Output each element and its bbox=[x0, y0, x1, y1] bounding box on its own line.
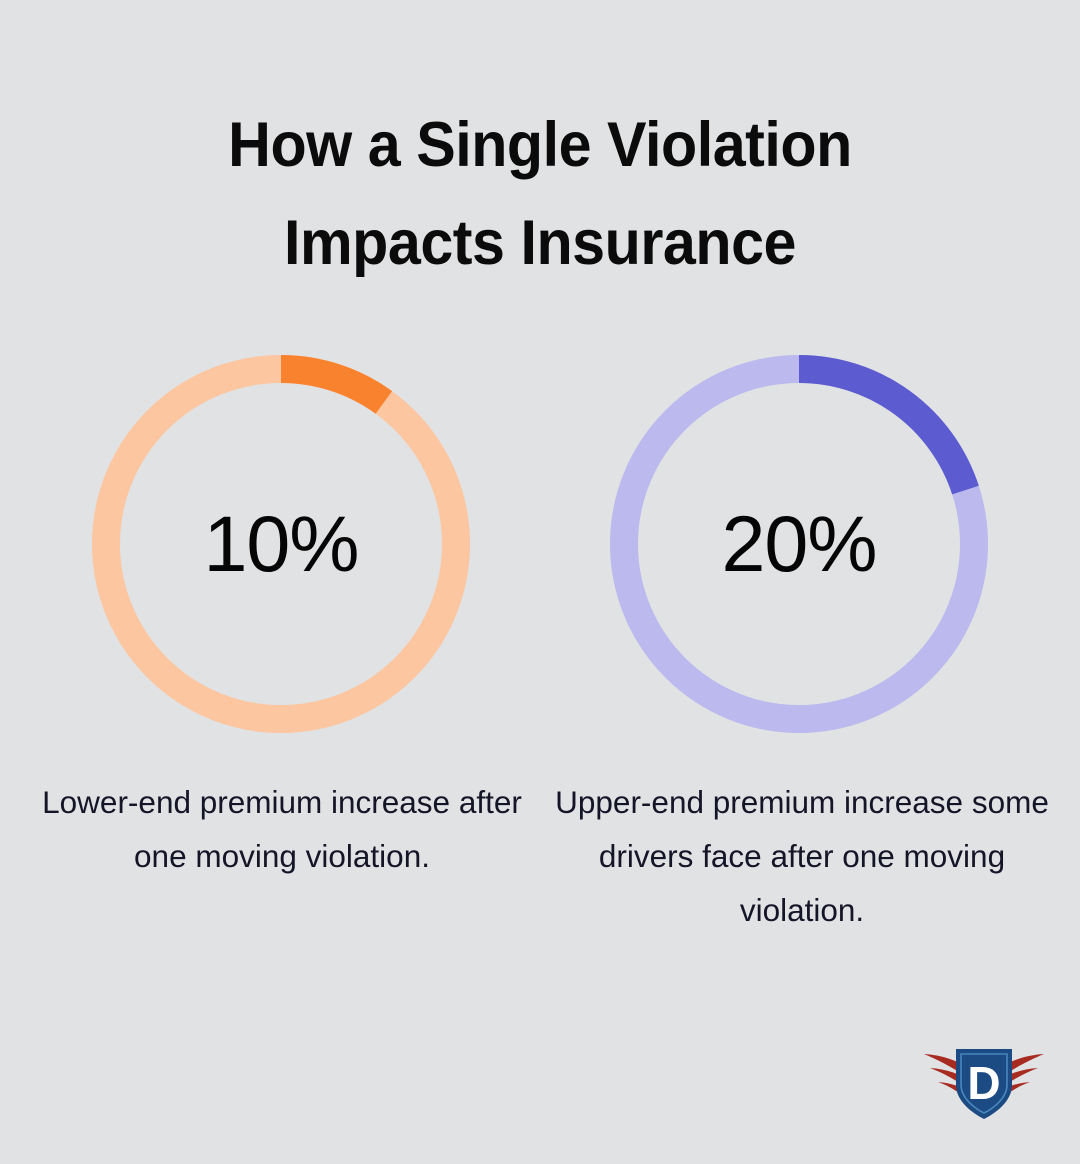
infographic-canvas: How a Single Violation Impacts Insurance… bbox=[0, 0, 1080, 1164]
title-line-2: Impacts Insurance bbox=[32, 194, 1047, 292]
donut-chart-upper-end: 20% bbox=[610, 355, 990, 733]
page-title: How a Single Violation Impacts Insurance bbox=[0, 96, 1080, 292]
donut-value-lower-end: 10% bbox=[92, 355, 470, 733]
title-line-1: How a Single Violation bbox=[32, 96, 1047, 194]
donut-chart-row: 10% 20% bbox=[0, 355, 1080, 735]
shield-wings-logo-icon: D bbox=[922, 1041, 1046, 1125]
caption-upper-end: Upper-end premium increase some drivers … bbox=[548, 775, 1056, 937]
logo-letter: D bbox=[967, 1057, 1000, 1109]
donut-value-upper-end: 20% bbox=[610, 355, 988, 733]
brand-logo: D bbox=[922, 1041, 1046, 1125]
caption-lower-end: Lower-end premium increase after one mov… bbox=[28, 775, 536, 883]
donut-chart-lower-end: 10% bbox=[92, 355, 472, 733]
